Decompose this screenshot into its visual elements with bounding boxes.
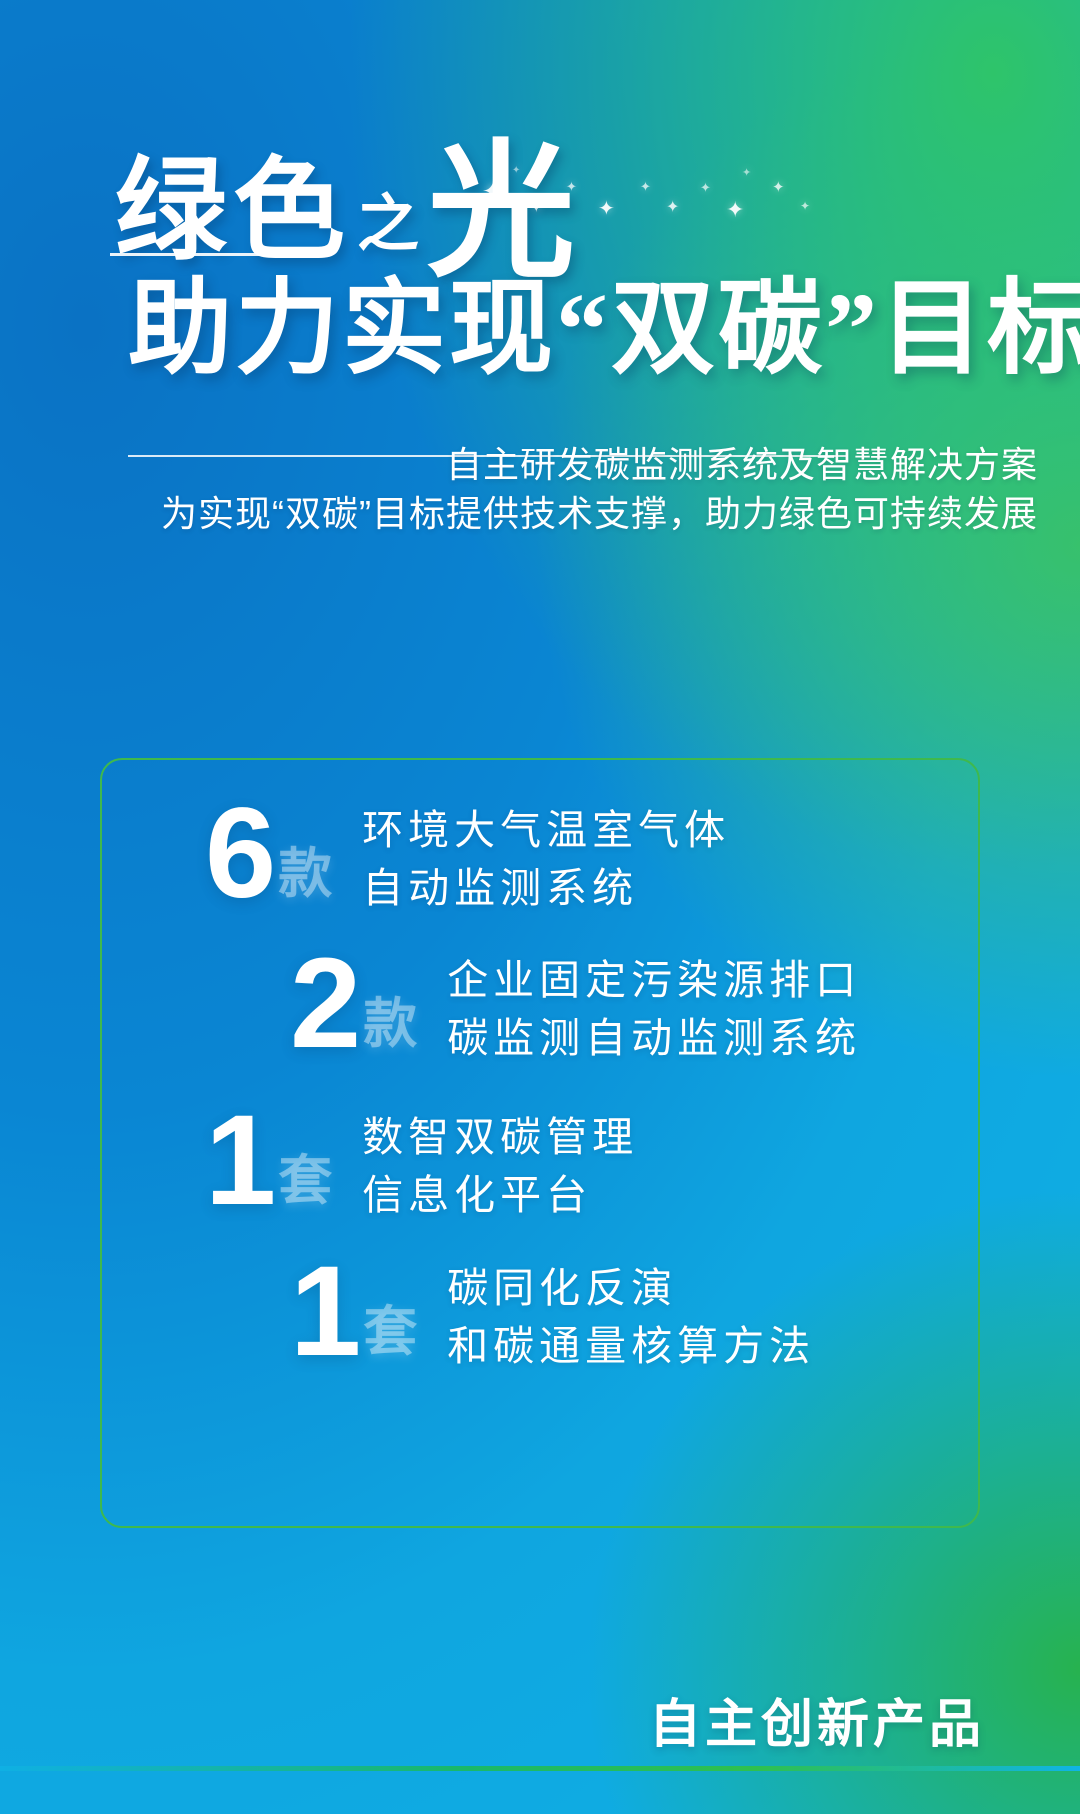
header-section: 绿色之光 助力实现“双碳”目标 自主研发碳监测系统及智慧解决方案 为实现“双碳”… [0,0,1080,660]
sparkle-icon: ✦ [530,200,543,215]
card-description-line2: 信息化平台 [362,1172,592,1218]
subtitle-line-1: 自主研发碳监测系统及智慧解决方案 [446,438,1038,491]
card-description-line2: 自动监测系统 [362,865,638,911]
card-description-line1: 企业固定污染源排口 [447,957,861,1003]
card-number: 6 [205,795,274,913]
footer-label: 自主创新产品 [649,1682,985,1757]
card-description-line1: 环境大气温室气体 [362,807,730,853]
sparkle-icon: ✦ [512,166,520,176]
card-description-line2: 和碳通量核算方法 [447,1323,815,1369]
card-number: 1 [205,1102,274,1220]
sparkle-icon: ✦ [772,180,785,195]
sparkle-icon: ✦ [598,199,615,219]
sparkle-icon: ✦ [666,200,679,216]
page-title-line1: 绿色之光 [115,140,581,288]
sparkle-icon: ✦ [726,199,744,221]
card-number: 2 [290,945,359,1063]
card-description: 环境大气温室气体 自动监测系统 [362,801,730,917]
poster-canvas: 绿色之光 助力实现“双碳”目标 自主研发碳监测系统及智慧解决方案 为实现“双碳”… [0,0,1080,1814]
sparkle-icon: ✦ [482,178,504,204]
sparkle-icon: ✦ [742,168,751,179]
footer-divider [0,1766,1080,1771]
card-description: 碳同化反演 和碳通量核算方法 [447,1259,815,1375]
card-description-line1: 数智双碳管理 [362,1114,638,1160]
card-description: 数智双碳管理 信息化平台 [362,1108,638,1224]
product-card: 1 套 数智双碳管理 信息化平台 [205,1102,638,1224]
title-particle: 之 [351,191,427,259]
card-description: 企业固定污染源排口 碳监测自动监测系统 [447,951,861,1067]
card-unit: 款 [278,847,332,901]
product-card: 2 款 企业固定污染源排口 碳监测自动监测系统 [290,945,861,1067]
card-unit: 套 [363,1305,417,1359]
card-unit: 款 [363,997,417,1051]
title-underline-short [110,253,322,256]
card-description-line1: 碳同化反演 [447,1265,677,1311]
page-title-line2: 助力实现“双碳”目标 [128,272,1080,388]
subtitle-line-2: 为实现“双碳”目标提供技术支撑，助力绿色可持续发展 [161,487,1038,540]
product-card: 1 套 碳同化反演 和碳通量核算方法 [290,1253,815,1375]
sparkle-icon: ✦ [800,200,810,212]
sparkle-icon: ✦ [640,180,651,193]
card-description-line2: 碳监测自动监测系统 [447,1015,861,1061]
sparkle-icon: ✦ [566,180,577,193]
card-unit: 套 [278,1154,332,1208]
sparkle-icon: ✦ [700,181,711,194]
product-card: 6 款 环境大气温室气体 自动监测系统 [205,795,730,917]
card-number: 1 [290,1253,359,1371]
